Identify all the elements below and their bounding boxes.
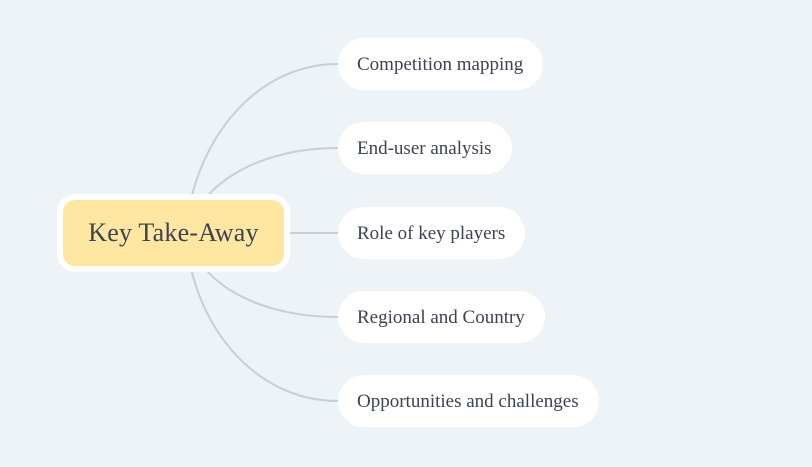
branch-node-label: Competition mapping <box>357 55 523 74</box>
root-node-fill: Key Take-Away <box>63 200 284 266</box>
branch-node-opportunities-and-challenges[interactable]: Opportunities and challenges <box>338 375 599 427</box>
branch-node-label: End-user analysis <box>357 139 492 158</box>
root-node-label: Key Take-Away <box>88 218 258 248</box>
branch-node-regional-and-country[interactable]: Regional and Country <box>338 291 545 343</box>
branch-node-label: Regional and Country <box>357 308 525 327</box>
mindmap-canvas: Key Take-Away Competition mapping End-us… <box>0 0 812 467</box>
branch-node-end-user-analysis[interactable]: End-user analysis <box>338 122 512 174</box>
branch-node-role-of-key-players[interactable]: Role of key players <box>338 207 525 259</box>
branch-node-label: Role of key players <box>357 224 505 243</box>
root-node-key-take-away[interactable]: Key Take-Away <box>57 194 290 272</box>
branch-node-competition-mapping[interactable]: Competition mapping <box>338 38 543 90</box>
branch-node-label: Opportunities and challenges <box>357 392 579 411</box>
